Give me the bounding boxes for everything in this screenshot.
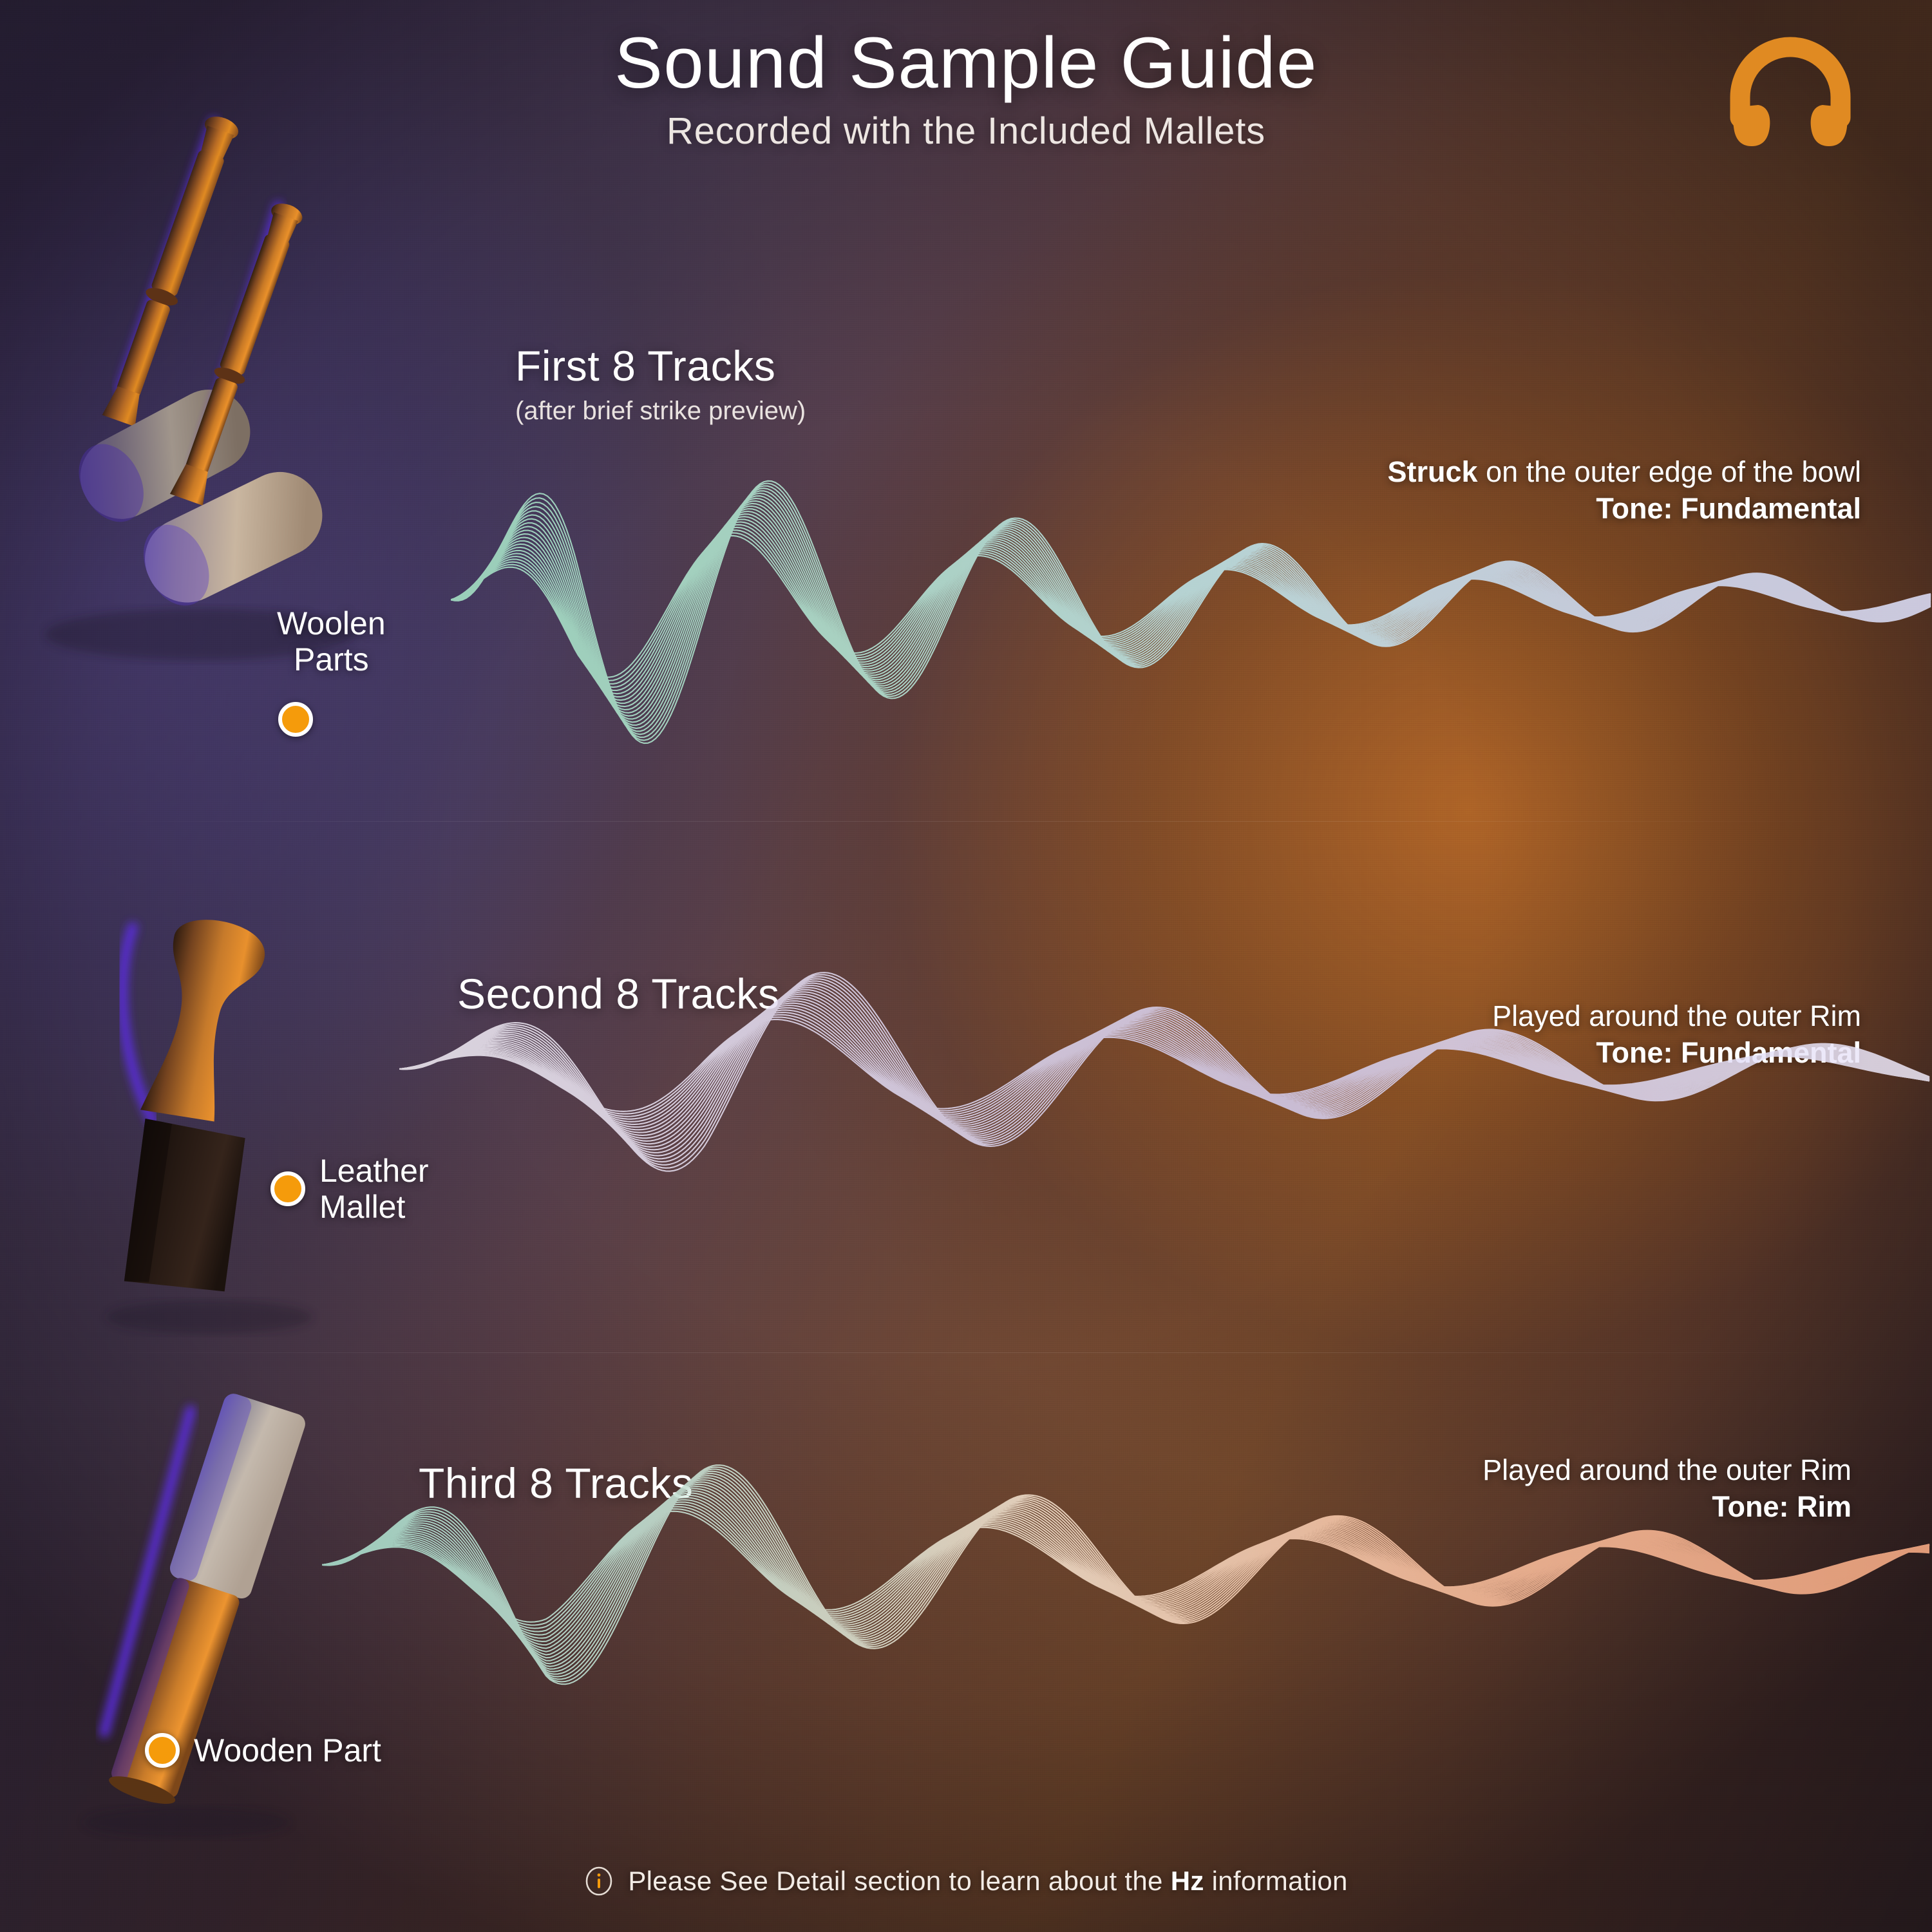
section-2-annotation-rest: around the outer Rim (1581, 999, 1861, 1032)
footer-text: Please See Detail section to learn about… (628, 1866, 1347, 1897)
section-3-tone: Tone: Rim (1482, 1489, 1851, 1526)
section-1-heading: First 8 Tracks (after brief strike previ… (515, 341, 806, 426)
section-3-title: Third 8 Tracks (419, 1459, 694, 1508)
mallet-label-leather-text: Leather Mallet (319, 1153, 429, 1225)
page-title: Sound Sample Guide (0, 26, 1932, 100)
footer-text-after: information (1204, 1866, 1348, 1896)
section-1-annotation: Struck on the outer edge of the bowl Ton… (1388, 454, 1862, 527)
footer-note: Please See Detail section to learn about… (0, 1866, 1932, 1897)
orange-dot-marker-woolen[interactable] (278, 702, 313, 737)
mallet-label-wooden-text: Wooden Part (194, 1732, 381, 1768)
section-2-annotation: Played around the outer Rim Tone: Fundam… (1492, 998, 1861, 1071)
leather-mallet-image (71, 889, 328, 1340)
section-1-annotation-line1: Struck on the outer edge of the bowl (1388, 454, 1862, 491)
mallet-label-woolen-text: Woolen Parts (277, 605, 386, 677)
section-3-annotation-lead: Played (1482, 1454, 1571, 1486)
mallet-label-wooden-part[interactable]: Wooden Part (145, 1732, 381, 1768)
section-3-annotation-rest: around the outer Rim (1571, 1454, 1851, 1486)
section-1-annotation-lead: Struck (1388, 455, 1478, 488)
section-1-tone: Tone: Fundamental (1388, 491, 1862, 527)
section-1-title: First 8 Tracks (515, 341, 806, 390)
section-2-annotation-line1: Played around the outer Rim (1492, 998, 1861, 1035)
footer-text-bold: Hz (1171, 1866, 1204, 1896)
section-1-subtitle: (after brief strike preview) (515, 397, 806, 426)
mallet-label-leather-mallet[interactable]: Leather Mallet (270, 1153, 429, 1225)
footer-text-before: Please See Detail section to learn about… (628, 1866, 1170, 1896)
section-1-annotation-rest: on the outer edge of the bowl (1478, 455, 1861, 488)
wooden-mallet-image (64, 1372, 322, 1842)
section-2-annotation-lead: Played (1492, 999, 1581, 1032)
orange-dot-marker-leather[interactable] (270, 1171, 305, 1206)
section-3-heading: Third 8 Tracks (419, 1459, 694, 1508)
section-2-heading: Second 8 Tracks (457, 969, 780, 1018)
orange-dot-marker-wooden[interactable] (145, 1733, 180, 1768)
section-2-tone: Tone: Fundamental (1492, 1035, 1861, 1072)
section-divider-2 (77, 1352, 1855, 1353)
section-3-annotation-line1: Played around the outer Rim (1482, 1452, 1851, 1489)
section-3-annotation: Played around the outer Rim Tone: Rim (1482, 1452, 1851, 1525)
woolen-mallets-image (39, 97, 438, 824)
info-circle-icon (584, 1866, 614, 1896)
headphones-icon (1726, 35, 1855, 151)
section-2-title: Second 8 Tracks (457, 969, 780, 1018)
infographic-canvas: Sound Sample Guide Recorded with the Inc… (0, 0, 1932, 1932)
mallet-label-woolen-parts[interactable]: Woolen Parts (277, 605, 386, 677)
